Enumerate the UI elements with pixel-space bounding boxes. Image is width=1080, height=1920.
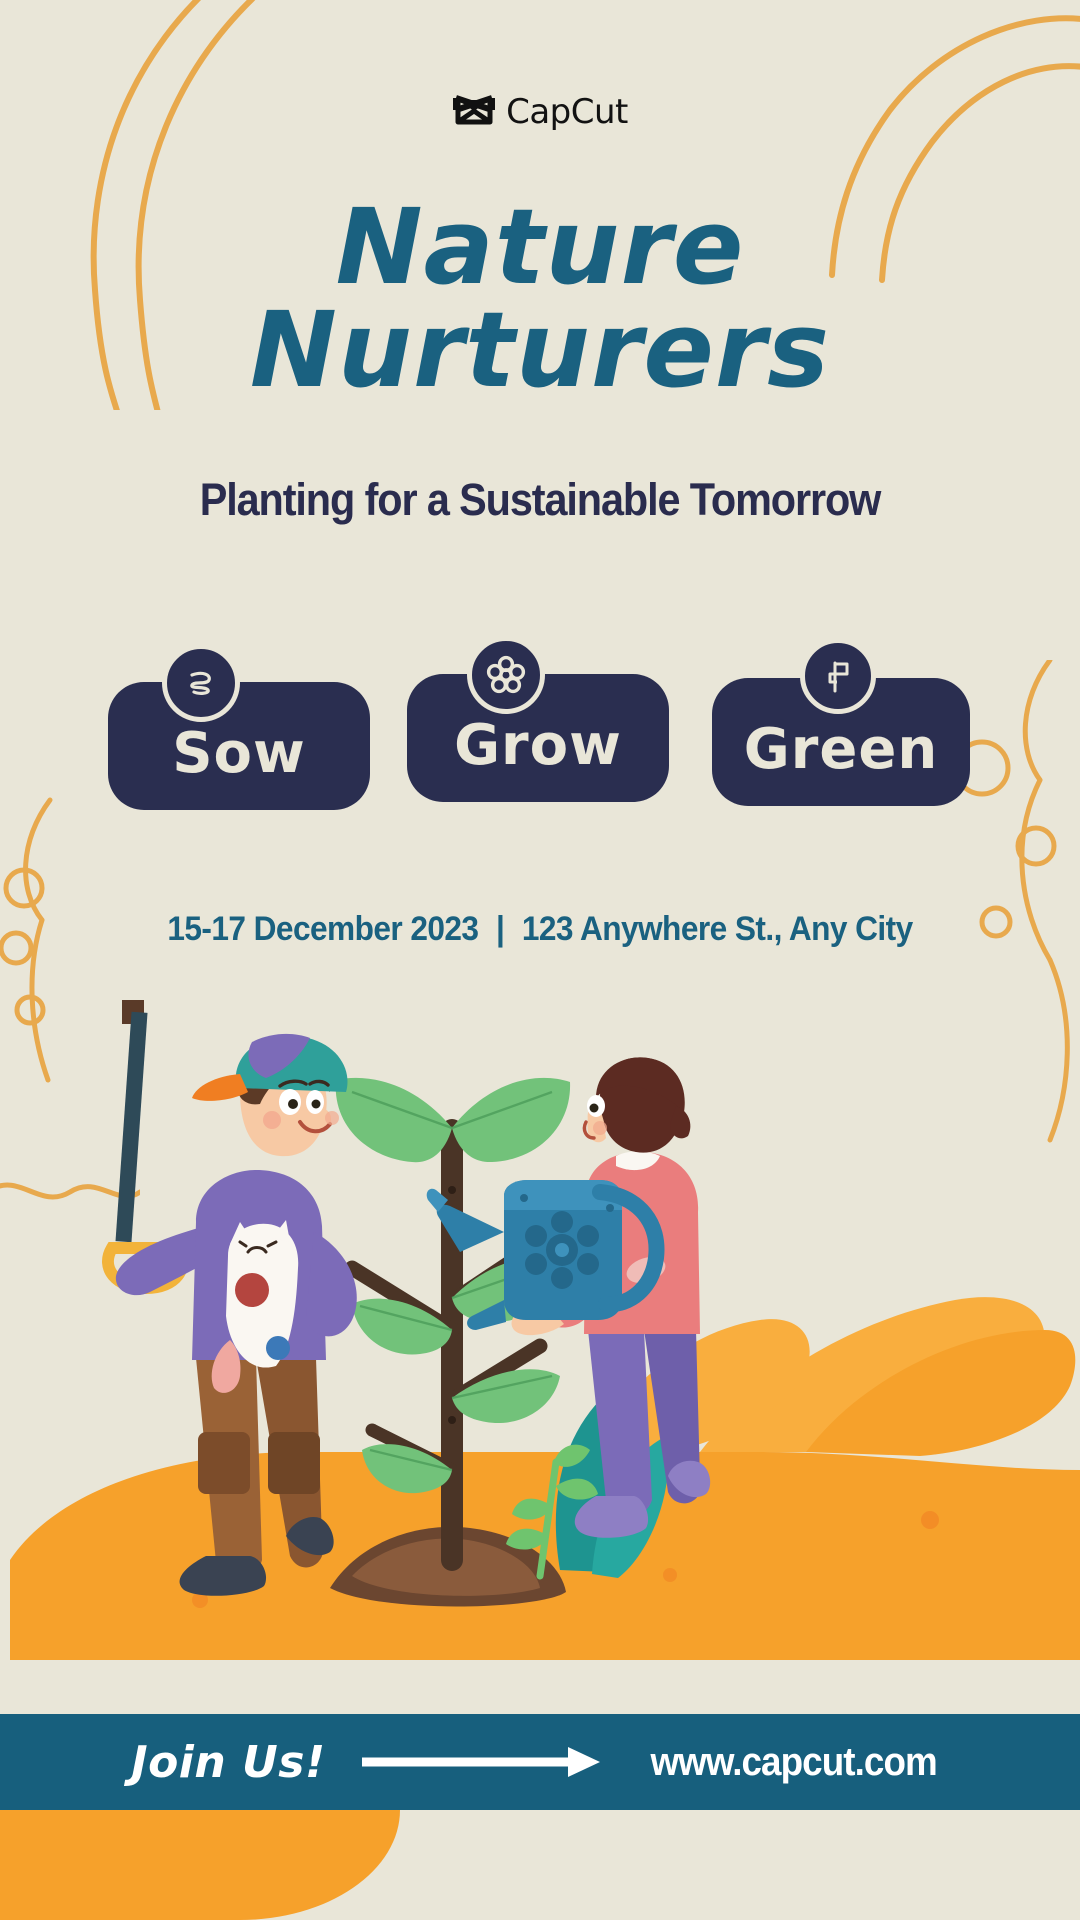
- brand-logo-text: CapCut: [506, 92, 628, 132]
- flower-icon: [467, 636, 545, 714]
- arrow-right-icon: [362, 1745, 602, 1779]
- feature-pill-row: Sow Grow: [0, 640, 1080, 840]
- brand-logo: CapCut: [0, 92, 1080, 132]
- feature-pill-sow-label[interactable]: Sow: [108, 682, 370, 810]
- feature-pill-sow[interactable]: Sow: [108, 682, 370, 810]
- seed-scribble-icon: [162, 644, 240, 722]
- footer-cta-bar: Join Us! www.capcut.com: [0, 1714, 1080, 1810]
- page-title: Nature Nurturers: [0, 196, 1080, 402]
- feature-pill-green[interactable]: Green: [712, 678, 970, 806]
- capcut-logo-icon: [452, 92, 496, 132]
- event-address: 123 Anywhere St., Any City: [522, 910, 913, 948]
- join-us-label: Join Us!: [131, 1737, 325, 1788]
- event-dates: 15-17 December 2023: [167, 910, 478, 948]
- hero-illustration: [0, 1000, 1080, 1720]
- feature-pill-grow[interactable]: Grow: [407, 674, 669, 802]
- event-separator: |: [487, 910, 514, 948]
- flag-icon: [800, 638, 876, 714]
- headline-line-2: Nurturers: [0, 299, 1080, 402]
- website-url[interactable]: www.capcut.com: [650, 1740, 936, 1785]
- poster-canvas: CapCut Nature Nurturers Planting for a S…: [0, 0, 1080, 1920]
- event-details: 15-17 December 2023 | 123 Anywhere St., …: [38, 910, 1042, 949]
- page-subtitle: Planting for a Sustainable Tomorrow: [43, 474, 1037, 526]
